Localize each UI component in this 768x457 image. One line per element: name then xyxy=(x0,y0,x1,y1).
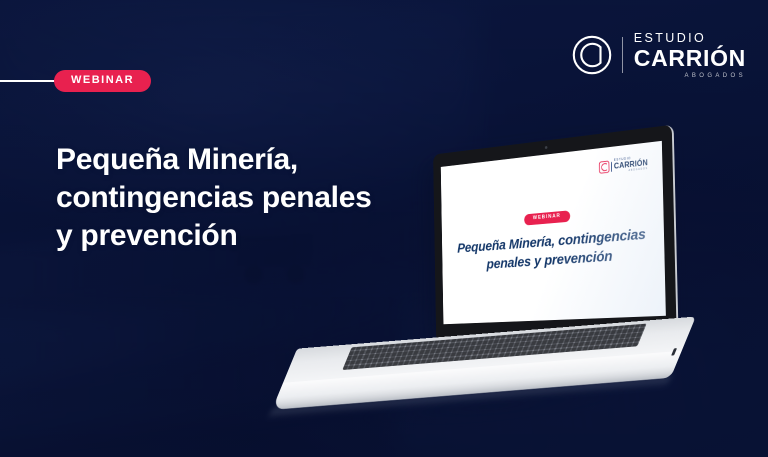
brand-divider xyxy=(622,37,623,73)
carrion-c-monogram-icon xyxy=(571,34,613,76)
laptop-screen: ESTUDIO CARRIÓN ABOGADOS WEBINAR Pequeña… xyxy=(441,141,666,324)
laptop-mockup: ESTUDIO CARRIÓN ABOGADOS WEBINAR Pequeña… xyxy=(352,126,682,426)
slide-brand-divider xyxy=(611,162,612,172)
slide-brand-logo: ESTUDIO CARRIÓN ABOGADOS xyxy=(599,155,648,175)
eyebrow-rule xyxy=(0,80,58,82)
laptop-inner: ESTUDIO CARRIÓN ABOGADOS WEBINAR Pequeña… xyxy=(346,119,688,433)
laptop-lid: ESTUDIO CARRIÓN ABOGADOS WEBINAR Pequeña… xyxy=(433,125,678,339)
webinar-banner: WEBINAR Pequeña Minería, contingencias p… xyxy=(0,0,768,457)
slide-carrion-c-monogram-icon xyxy=(599,161,610,174)
eyebrow: WEBINAR xyxy=(0,70,151,92)
webinar-badge: WEBINAR xyxy=(54,70,151,92)
page-title: Pequeña Minería, contingencias penales y… xyxy=(56,141,386,255)
brand-name-text: CARRIÓN xyxy=(634,47,746,70)
brand-estudio-text: ESTUDIO xyxy=(634,32,746,45)
laptop-camera-icon xyxy=(544,146,547,149)
brand-logo: ESTUDIO CARRIÓN ABOGADOS xyxy=(571,32,746,79)
slide-webinar-badge: WEBINAR xyxy=(524,210,570,225)
slide-brand-wordmark: ESTUDIO CARRIÓN ABOGADOS xyxy=(614,155,648,173)
slide-title: Pequeña Minería, contingencias penales y… xyxy=(448,224,657,277)
brand-tagline-text: ABOGADOS xyxy=(634,73,746,79)
brand-wordmark: ESTUDIO CARRIÓN ABOGADOS xyxy=(634,32,746,79)
